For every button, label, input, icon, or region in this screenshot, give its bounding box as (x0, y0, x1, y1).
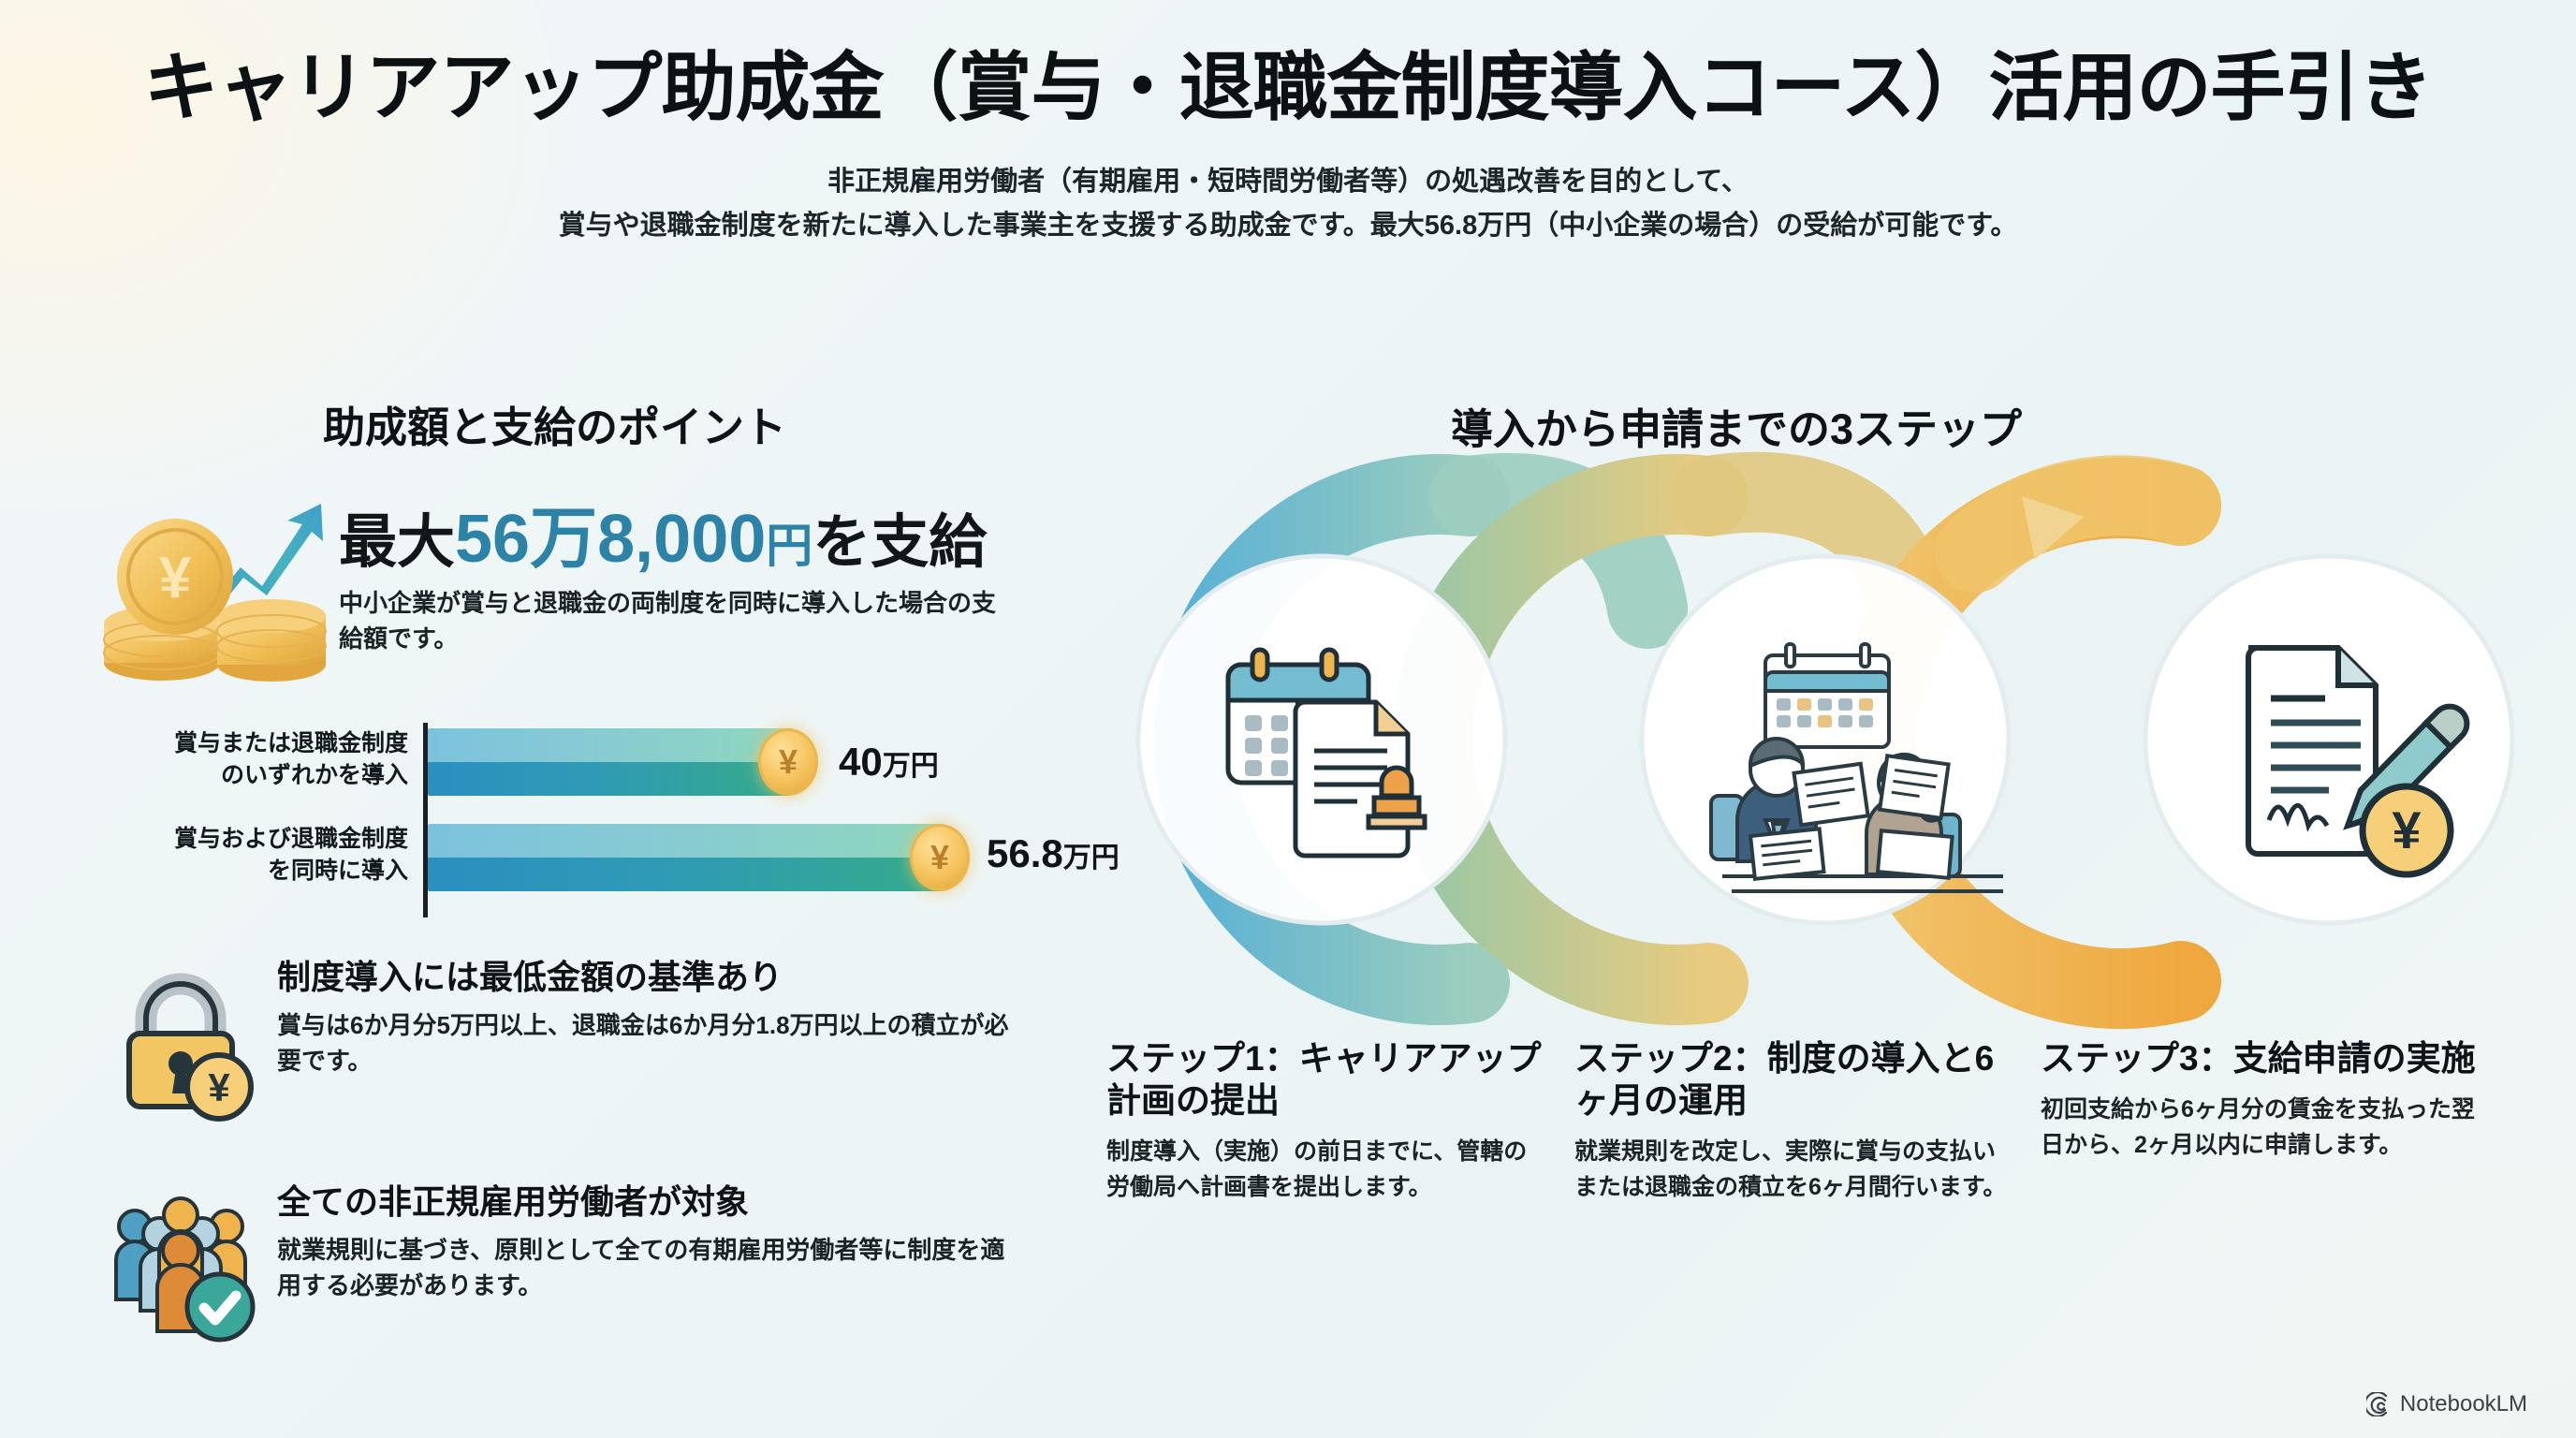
bar-0-value-unit: 万円 (883, 751, 939, 782)
bar-label-1: 賞与および退職金制度 を同時に導入 (103, 824, 408, 887)
bar-0-value-number: 40 (839, 740, 883, 784)
feature-2-body: 全ての非正規雇用労働者が対象 就業規則に基づき、原則として全ての有期雇用労働者等… (277, 1181, 1017, 1304)
hero-amount-line: 最大56万8,000円を支給 (339, 504, 1050, 575)
watermark: NotebookLM (2366, 1391, 2527, 1417)
grant-amount-bar-chart: 賞与または退職金制度 のいずれかを導入 ¥ 40万円 賞与および退職金制度 を同… (103, 723, 1058, 919)
hero-amount-suffix: を支給 (812, 510, 987, 575)
bar-0 (428, 728, 791, 796)
svg-text:¥: ¥ (159, 546, 192, 610)
bar-1-top (428, 824, 944, 858)
bar-label-0: 賞与または退職金制度 のいずれかを導入 (103, 728, 408, 791)
bar-0-coin-marker: ¥ (758, 728, 818, 796)
people-check-icon (101, 1189, 260, 1348)
left-column: 助成額と支給のポイント (0, 0, 1076, 1438)
step-3-text: 初回支給から6ヶ月分の賃金を支払った翌日から、2ヶ月以内に申請します。 (2041, 1093, 2477, 1163)
notebooklm-spiral-icon (2366, 1392, 2391, 1416)
bar-label-0-line-1: 賞与または退職金制度 (103, 728, 408, 760)
svg-text:¥: ¥ (208, 1065, 230, 1109)
hero-description: 中小企業が賞与と退職金の両制度を同時に導入した場合の支給額です。 (339, 586, 1013, 656)
bar-label-0-line-2: のいずれかを導入 (103, 760, 408, 792)
step-1-heading: ステップ1：キャリアアップ計画の提出 (1106, 1037, 1543, 1122)
bar-1 (428, 824, 944, 891)
hero-amount-unit: 円 (766, 520, 812, 572)
step-1-text: 制度導入（実施）の前日までに、管轄の労働局へ計画書を提出します。 (1106, 1135, 1543, 1205)
right-column: 導入から申請までの3ステップ (1076, 0, 2576, 1438)
hero-amount-prefix: 最大 (339, 510, 455, 575)
step-2: ステップ2：制度の導入と6ヶ月の運用 就業規則を改定し、実際に賞与の支払いまたは… (1574, 1037, 2011, 1205)
infographic-page: キャリアアップ助成金（賞与・退職金制度導入コース）活用の手引き 非正規雇用労働者… (0, 0, 2576, 1438)
hero-amount-block: 最大56万8,000円を支給 中小企業が賞与と退職金の両制度を同時に導入した場合… (339, 504, 1050, 656)
step-3-heading: ステップ3：支給申請の実施 (2041, 1037, 2477, 1079)
step-2-heading: ステップ2：制度の導入と6ヶ月の運用 (1574, 1037, 2011, 1122)
table-row: 賞与および退職金制度 を同時に導入 ¥ 56.8万円 (103, 818, 1058, 899)
feature-1-text: 賞与は6か月分5万円以上、退職金は6か月分1.8万円以上の積立が必要です。 (277, 1008, 1017, 1079)
feature-2-text: 就業規則に基づき、原則として全ての有期雇用労働者等に制度を適用する必要があります… (277, 1233, 1017, 1304)
bar-1-coin-marker: ¥ (910, 824, 970, 891)
bar-1-bottom (428, 858, 944, 891)
bar-label-1-line-1: 賞与および退職金制度 (103, 824, 408, 856)
step-1: ステップ1：キャリアアップ計画の提出 制度導入（実施）の前日までに、管轄の労働局… (1106, 1037, 1543, 1205)
step-3: ステップ3：支給申請の実施 初回支給から6ヶ月分の賃金を支払った翌日から、2ヶ月… (2041, 1037, 2477, 1163)
bar-1-value-number: 56.8 (987, 831, 1063, 875)
step-2-text: 就業規則を改定し、実際に賞与の支払いまたは退職金の積立を6ヶ月間行います。 (1574, 1135, 2011, 1205)
bar-0-bottom (428, 762, 791, 796)
coins-growth-arrow-icon: ¥ (89, 466, 337, 700)
feature-1-body: 制度導入には最低金額の基準あり 賞与は6か月分5万円以上、退職金は6か月分1.8… (277, 957, 1017, 1079)
svg-text:¥: ¥ (2392, 800, 2421, 859)
hero-amount-value: 56万8,000 (455, 502, 766, 577)
bar-0-value-label: 40万円 (839, 740, 939, 785)
bar-0-top (428, 728, 791, 762)
table-row: 賞与または退職金制度 のいずれかを導入 ¥ 40万円 (103, 723, 1058, 803)
lock-yen-icon: ¥ (101, 964, 260, 1123)
left-section-title: 助成額と支給のポイント (323, 393, 786, 454)
step-illustration-circles: ¥ (1076, 440, 2576, 1039)
bar-label-1-line-2: を同時に導入 (103, 856, 408, 888)
watermark-label: NotebookLM (2400, 1391, 2527, 1417)
feature-2-heading: 全ての非正規雇用労働者が対象 (277, 1181, 1017, 1222)
feature-1-heading: 制度導入には最低金額の基準あり (277, 957, 1017, 997)
